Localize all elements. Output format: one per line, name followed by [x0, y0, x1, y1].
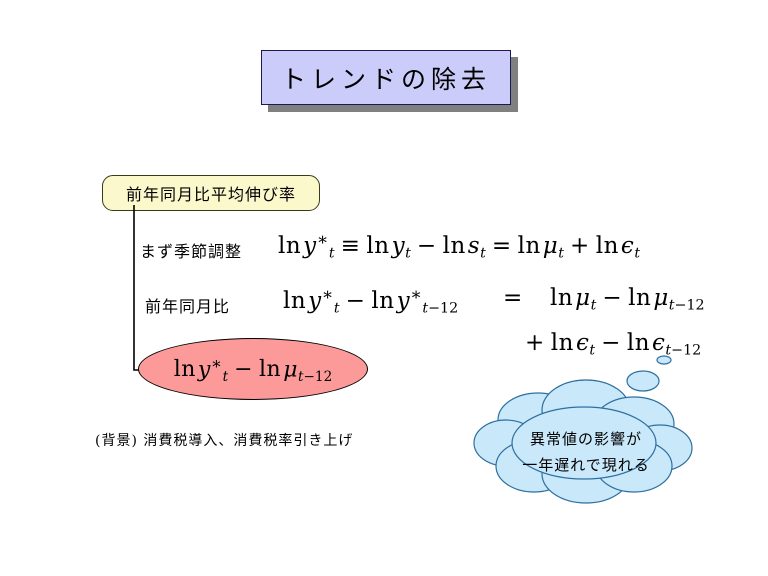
mu-var: μ: [575, 285, 590, 311]
epsilon-var: ϵ: [621, 233, 634, 259]
minus-symbol: −: [340, 288, 372, 314]
equals-symbol: =: [503, 285, 523, 311]
slide-canvas: トレンドの除去 前年同月比平均伸び率 まず季節調整 lny∗t≡lnyt−lns…: [0, 0, 768, 576]
equiv-symbol: ≡: [335, 233, 367, 259]
title-box: トレンドの除去: [261, 50, 511, 105]
mu-var: μ: [543, 233, 558, 259]
bottom-note: (背景) 消費税導入、消費税率引き上げ: [95, 430, 353, 450]
equation-row-1: lny∗t≡lnyt−lnst=lnμt+lnϵt: [278, 230, 640, 261]
y-var: y: [392, 233, 406, 259]
ln-symbol: ln: [174, 357, 198, 382]
highlight-ellipse: lny∗t−lnμt−12: [138, 338, 368, 400]
thought-bubble-small: [657, 356, 671, 364]
minus-symbol: −: [596, 285, 628, 311]
highlight-expression: lny∗t−lnμt−12: [174, 354, 333, 385]
minus-symbol: −: [228, 357, 259, 382]
ln-symbol: ln: [283, 288, 308, 314]
cloud-line-2: 一年遅れで現れる: [496, 452, 676, 478]
equation-row-2-rhs: lnμt−lnμt−12: [550, 285, 705, 314]
cloud-callout: 異常値の影響が 一年遅れで現れる: [468, 348, 703, 523]
minus-symbol: −: [411, 233, 443, 259]
plus-symbol: +: [564, 233, 596, 259]
growth-rate-label-text: 前年同月比平均伸び率: [126, 181, 296, 205]
y-star-t-lag12: y∗t−12: [397, 285, 459, 316]
ln-symbol: ln: [278, 233, 303, 259]
mu-var: μ: [653, 285, 668, 311]
cloud-line-1: 異常値の影響が: [496, 426, 676, 452]
y-star-t: y∗t: [198, 354, 228, 385]
cloud-text: 異常値の影響が 一年遅れで現れる: [496, 426, 676, 478]
mu-var: μ: [283, 357, 298, 382]
ln-symbol: ln: [596, 233, 621, 259]
thought-bubble-medium: [627, 371, 659, 391]
equation-row-2-relation: =: [503, 285, 523, 311]
row1-label: まず季節調整: [140, 238, 242, 262]
ln-symbol: ln: [628, 285, 653, 311]
equals-symbol: =: [486, 233, 518, 259]
page-title: トレンドの除去: [281, 60, 491, 96]
y-star-t: y∗t: [308, 285, 339, 316]
ln-symbol: ln: [518, 233, 543, 259]
ln-symbol: ln: [371, 288, 396, 314]
ln-symbol: ln: [259, 357, 283, 382]
s-var: s: [468, 233, 480, 259]
y-star-t: y∗t: [303, 230, 334, 261]
ln-symbol: ln: [443, 233, 468, 259]
equation-row-2-lhs: lny∗t−lny∗t−12: [283, 285, 458, 316]
ln-symbol: ln: [366, 233, 391, 259]
ln-symbol: ln: [550, 285, 575, 311]
row2-label: 前年同月比: [145, 293, 230, 317]
